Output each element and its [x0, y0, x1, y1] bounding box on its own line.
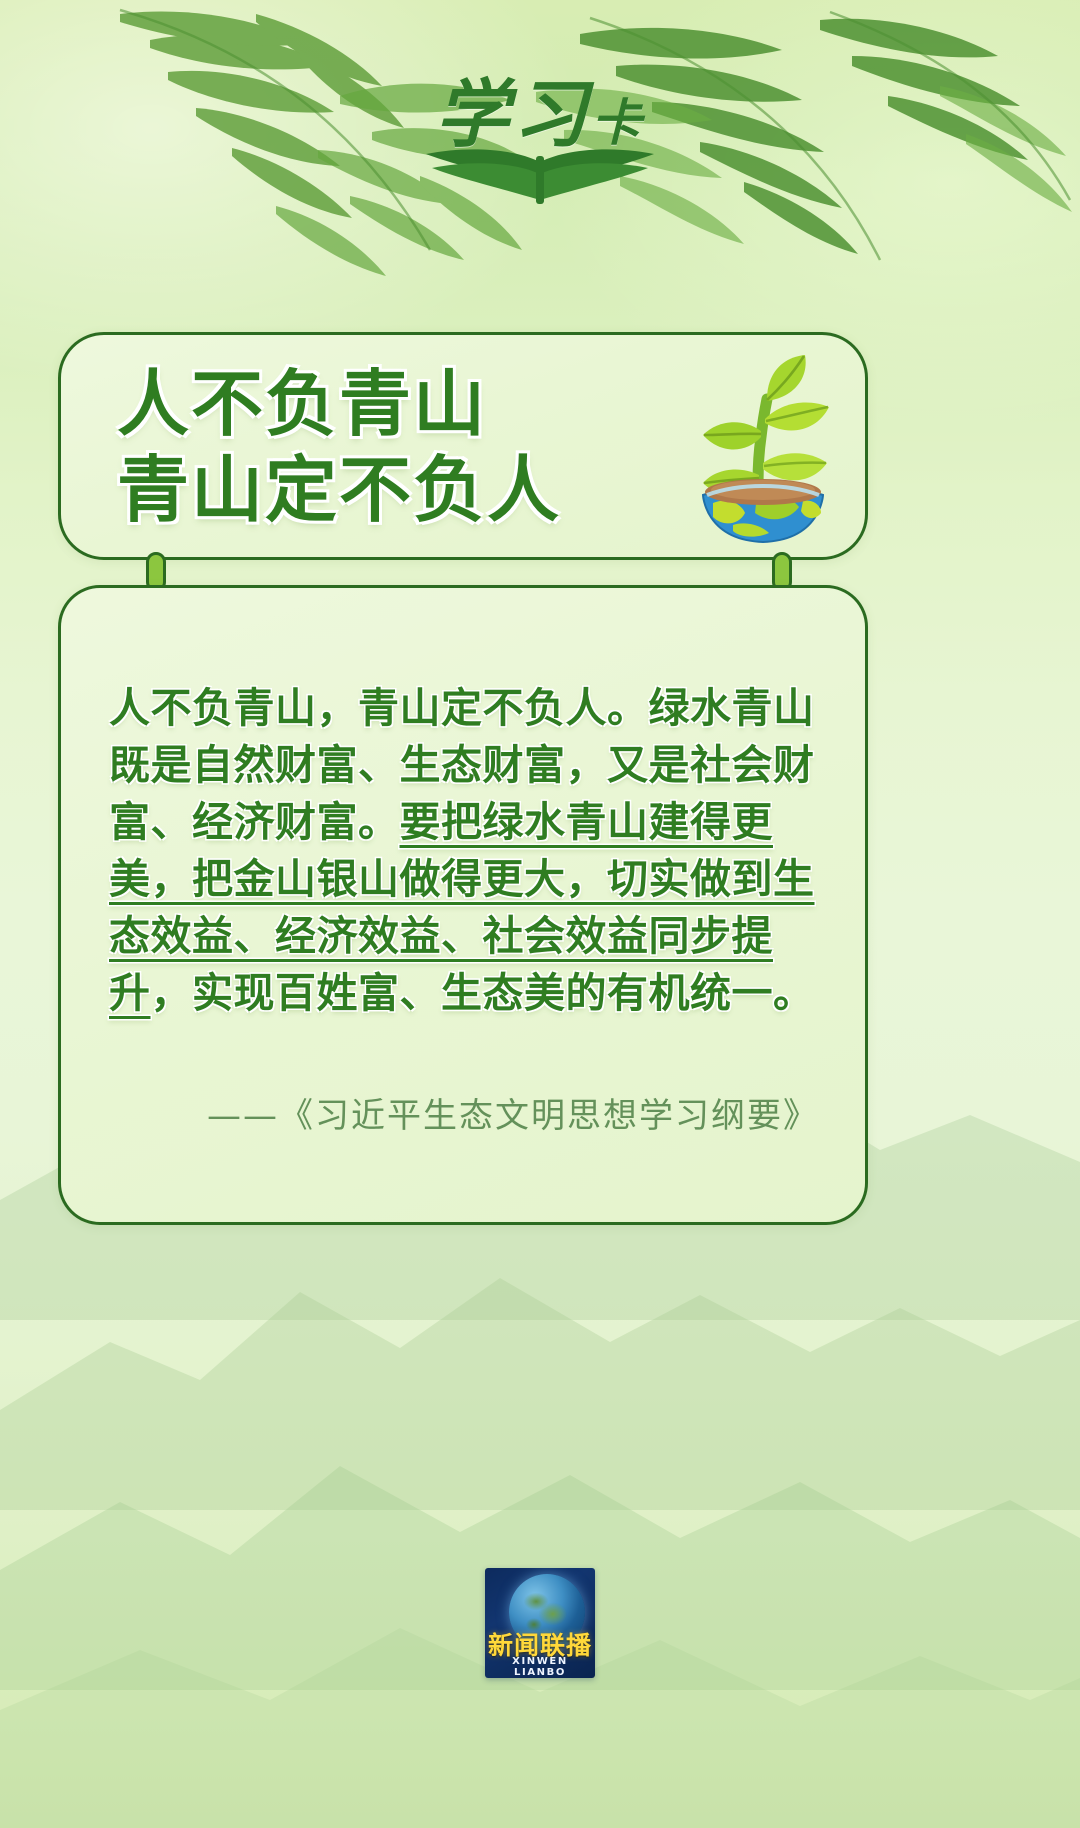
brand-logo-suffix: 卡 [591, 93, 645, 152]
quote-text: 人不负青山，青山定不负人。绿水青山既是自然财富、生态财富，又是社会财富、经济财富… [109, 680, 825, 1022]
xinwen-lianbo-logo: 新闻联播 XINWEN LIANBO [485, 1568, 595, 1678]
quote-card: 人不负青山，青山定不负人。绿水青山既是自然财富、生态财富，又是社会财富、经济财富… [58, 585, 868, 1225]
sprout-in-globe-pot-icon [683, 345, 843, 550]
quote-part-plain-2: ，实现百姓富、生态美的有机统一。 [151, 969, 815, 1017]
brand-logo: 学习卡 [0, 78, 1080, 213]
quote-citation: ——《习近平生态文明思想学习纲要》 [207, 1088, 819, 1137]
title-line-1: 人不负青山青山定不负人 [117, 361, 561, 533]
open-book-icon [0, 146, 1080, 213]
brand-logo-text: 学习卡 [0, 78, 1080, 152]
logo-pinyin-label: XINWEN LIANBO [485, 1656, 595, 1678]
title-card: 人不负青山青山定不负人 [58, 332, 868, 560]
title-line-2: 青山定不负人 [117, 448, 561, 532]
poster-canvas: 学习卡 人不负青山青山定不负人 [0, 0, 1080, 1828]
